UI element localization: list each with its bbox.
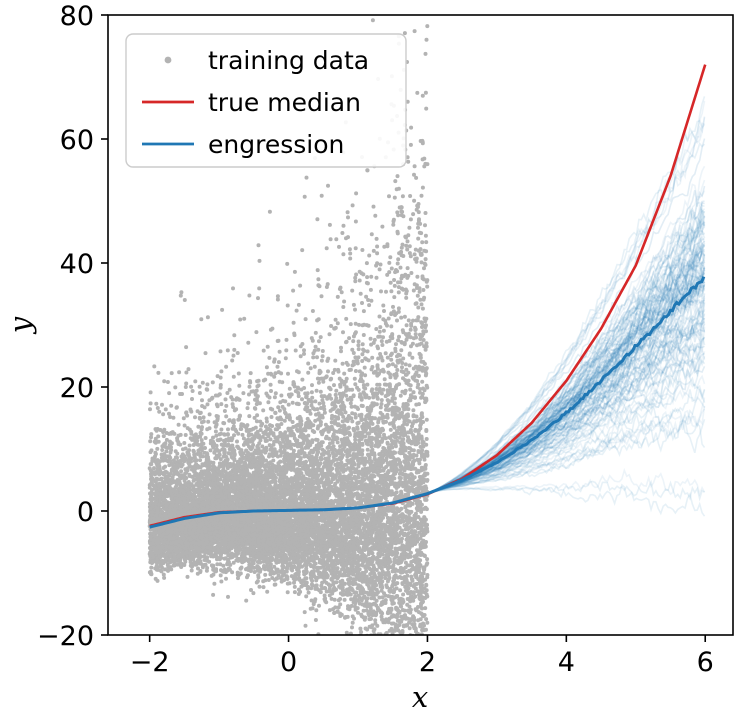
scatter-point (401, 376, 405, 380)
scatter-point (263, 573, 267, 577)
scatter-point (395, 319, 399, 323)
scatter-point (273, 578, 277, 582)
scatter-point (384, 290, 388, 294)
scatter-point (293, 270, 297, 274)
scatter-point (424, 211, 428, 215)
scatter-point (284, 356, 288, 360)
scatter-point (288, 387, 292, 391)
scatter-point (315, 318, 319, 322)
scatter-point (424, 257, 428, 261)
scatter-point (400, 365, 404, 369)
scatter-point (294, 349, 298, 353)
scatter-point (413, 29, 417, 33)
scatter-point (262, 349, 266, 353)
scatter-point (336, 295, 340, 299)
scatter-point (162, 379, 166, 383)
scatter-point (326, 369, 330, 373)
scatter-point (425, 437, 429, 441)
scatter-point (154, 402, 158, 406)
scatter-point (156, 406, 160, 410)
scatter-point (305, 176, 309, 180)
scatter-point (306, 371, 310, 375)
scatter-point (205, 382, 209, 386)
scatter-point (302, 352, 306, 356)
scatter-point (270, 415, 274, 419)
scatter-point (167, 391, 171, 395)
scatter-point (417, 217, 421, 221)
scatter-point (374, 264, 378, 268)
scatter-point (354, 220, 358, 224)
scatter-point (414, 327, 418, 331)
scatter-point (386, 398, 390, 402)
scatter-point (342, 224, 346, 228)
scatter-point (353, 377, 357, 381)
scatter-point (223, 409, 227, 413)
scatter-point (179, 294, 183, 298)
scatter-point (350, 289, 354, 293)
scatter-point (285, 262, 289, 266)
scatter-point (287, 403, 291, 407)
scatter-point (267, 356, 271, 360)
scatter-point (421, 288, 425, 292)
scatter-point (386, 442, 390, 446)
scatter-point (398, 588, 402, 592)
scatter-point (369, 288, 373, 292)
scatter-point (184, 433, 188, 437)
scatter-point (242, 317, 246, 321)
scatter-point (177, 423, 181, 427)
scatter-point (232, 333, 236, 337)
figure-canvas: −20246−20020406080 x y training datatrue… (0, 0, 741, 718)
scatter-point (392, 295, 396, 299)
scatter-point (399, 266, 403, 270)
scatter-point (351, 203, 355, 207)
scatter-point (342, 372, 346, 376)
scatter-point (255, 413, 259, 417)
scatter-point (334, 389, 338, 393)
scatter-point (416, 226, 420, 230)
scatter-point (310, 396, 314, 400)
scatter-point (286, 372, 290, 376)
scatter-point (356, 343, 360, 347)
scatter-point (398, 440, 402, 444)
scatter-point (328, 332, 332, 336)
scatter-point (274, 411, 278, 415)
scatter-point (156, 579, 160, 583)
scatter-point (333, 359, 337, 363)
scatter-point (412, 289, 416, 293)
scatter-point (405, 248, 409, 252)
scatter-point (326, 184, 330, 188)
scatter-point (173, 385, 177, 389)
scatter-point (276, 298, 280, 302)
scatter-point (421, 307, 425, 311)
scatter-point (405, 323, 409, 327)
scatter-point (190, 397, 194, 401)
scatter-point (184, 447, 188, 451)
scatter-point (329, 324, 333, 328)
scatter-point (182, 441, 186, 445)
scatter-point (360, 359, 364, 363)
scatter-point (403, 31, 407, 35)
scatter-point (408, 244, 412, 248)
scatter-point (266, 345, 270, 349)
scatter-point (242, 443, 246, 447)
scatter-point (382, 329, 386, 333)
scatter-point (200, 420, 204, 424)
scatter-point (306, 434, 310, 438)
scatter-point (379, 566, 383, 570)
scatter-point (391, 622, 395, 626)
scatter-point (416, 306, 420, 310)
scatter-point (161, 412, 165, 416)
scatter-point (199, 317, 203, 321)
scatter-point (424, 583, 428, 587)
scatter-point (361, 342, 365, 346)
scatter-point (378, 315, 382, 319)
scatter-point (182, 416, 186, 420)
scatter-point (320, 294, 324, 298)
scatter-point (397, 290, 401, 294)
scatter-point (370, 356, 374, 360)
scatter-point (341, 305, 345, 309)
scatter-point (399, 394, 403, 398)
scatter-point (362, 333, 366, 337)
scatter-point (201, 381, 205, 385)
scatter-point (424, 429, 428, 433)
scatter-point (285, 338, 289, 342)
scatter-point (314, 618, 318, 622)
scatter-point (171, 416, 175, 420)
scatter-point (409, 126, 413, 130)
scatter-point (208, 426, 212, 430)
scatter-point (272, 360, 276, 364)
scatter-point (328, 223, 332, 227)
scatter-point (353, 382, 357, 386)
scatter-point (348, 252, 352, 256)
scatter-point (392, 278, 396, 282)
scatter-point (387, 194, 391, 198)
scatter-point (184, 385, 188, 389)
scatter-point (226, 595, 230, 599)
scatter-point (418, 290, 422, 294)
scatter-point (425, 285, 429, 289)
scatter-point (372, 205, 376, 209)
scatter-point (407, 318, 411, 322)
scatter-point (206, 402, 210, 406)
scatter-point (372, 249, 376, 253)
scatter-point (224, 365, 228, 369)
scatter-point (276, 405, 280, 409)
scatter-point (286, 304, 290, 308)
scatter-point (350, 411, 354, 415)
scatter-point (170, 371, 174, 375)
scatter-point (311, 355, 315, 359)
scatter-point (339, 349, 343, 353)
scatter-point (291, 420, 295, 424)
scatter-point (404, 244, 408, 248)
scatter-point (214, 430, 218, 434)
scatter-point (406, 160, 410, 164)
scatter-point (317, 381, 321, 385)
scatter-point (384, 583, 388, 587)
scatter-point (411, 408, 415, 412)
chart-svg: −20246−20020406080 x y training datatrue… (0, 0, 741, 718)
scatter-point (380, 225, 384, 229)
scatter-point (257, 383, 261, 387)
scatter-point (238, 318, 242, 322)
scatter-point (149, 566, 153, 570)
scatter-point (184, 345, 188, 349)
scatter-point (149, 435, 153, 439)
scatter-point (202, 415, 206, 419)
scatter-point (376, 335, 380, 339)
scatter-point (352, 303, 356, 307)
scatter-point (416, 294, 420, 298)
scatter-point (228, 388, 232, 392)
scatter-point (375, 245, 379, 249)
scatter-point (366, 448, 370, 452)
scatter-point (380, 589, 384, 593)
scatter-point (353, 276, 357, 280)
scatter-point (423, 223, 427, 227)
scatter-point (231, 398, 235, 402)
scatter-point (257, 243, 261, 247)
scatter-point (224, 414, 228, 418)
scatter-point (387, 261, 391, 265)
scatter-point (149, 401, 153, 405)
scatter-point (358, 279, 362, 283)
scatter-point (424, 107, 428, 111)
scatter-point (394, 444, 398, 448)
scatter-point (369, 275, 373, 279)
scatter-point (352, 617, 356, 621)
scatter-point (344, 317, 348, 321)
scatter-point (319, 335, 323, 339)
scatter-point (354, 191, 358, 195)
scatter-point (354, 369, 358, 373)
scatter-point (378, 352, 382, 356)
scatter-point (380, 398, 384, 402)
scatter-point (162, 434, 166, 438)
scatter-point (314, 345, 318, 349)
scatter-point (420, 194, 424, 198)
scatter-point (315, 389, 319, 393)
scatter-point (321, 354, 325, 358)
scatter-point (262, 379, 266, 383)
scatter-point (401, 608, 405, 612)
scatter-point (278, 380, 282, 384)
scatter-point (220, 308, 224, 312)
scatter-point (319, 590, 323, 594)
scatter-point (389, 428, 393, 432)
scatter-point (421, 572, 425, 576)
scatter-point (278, 350, 282, 354)
scatter-point (425, 621, 429, 625)
scatter-point (257, 286, 261, 290)
scatter-point (266, 400, 270, 404)
scatter-point (393, 179, 397, 183)
scatter-point (423, 471, 427, 475)
scatter-point (418, 286, 422, 290)
scatter-point (397, 306, 401, 310)
scatter-point (394, 349, 398, 353)
scatter-point (375, 395, 379, 399)
scatter-point (314, 331, 318, 335)
scatter-point (244, 599, 248, 603)
scatter-point (341, 401, 345, 405)
scatter-point (358, 627, 362, 631)
scatter-point (293, 585, 297, 589)
scatter-point (353, 355, 357, 359)
scatter-point (389, 324, 393, 328)
scatter-point (255, 419, 259, 423)
scatter-point (407, 226, 411, 230)
scatter-point (378, 330, 382, 334)
scatter-point (363, 387, 367, 391)
scatter-point (425, 162, 429, 166)
scatter-point (226, 348, 230, 352)
scatter-point (278, 460, 282, 464)
scatter-point (373, 214, 377, 218)
scatter-point (177, 370, 181, 374)
scatter-point (297, 588, 301, 592)
scatter-point (409, 143, 413, 147)
scatter-point (232, 375, 236, 379)
scatter-point (198, 391, 202, 395)
scatter-point (343, 598, 347, 602)
scatter-point (246, 406, 250, 410)
scatter-point (302, 386, 306, 390)
scatter-point (321, 349, 325, 353)
scatter-point (404, 292, 408, 296)
scatter-point (397, 310, 401, 314)
scatter-point (418, 333, 422, 337)
scatter-point (395, 368, 399, 372)
scatter-point (327, 450, 331, 454)
scatter-point (375, 237, 379, 241)
scatter-point (424, 91, 428, 95)
scatter-point (385, 324, 389, 328)
scatter-point (394, 364, 398, 368)
scatter-point (198, 458, 202, 462)
scatter-point (394, 342, 398, 346)
scatter-point (310, 383, 314, 387)
scatter-point (340, 290, 344, 294)
scatter-point (393, 196, 397, 200)
scatter-point (378, 325, 382, 329)
scatter-point (354, 416, 358, 420)
scatter-point (413, 379, 417, 383)
scatter-point (309, 366, 313, 370)
scatter-point (345, 340, 349, 344)
scatter-point (219, 438, 223, 442)
